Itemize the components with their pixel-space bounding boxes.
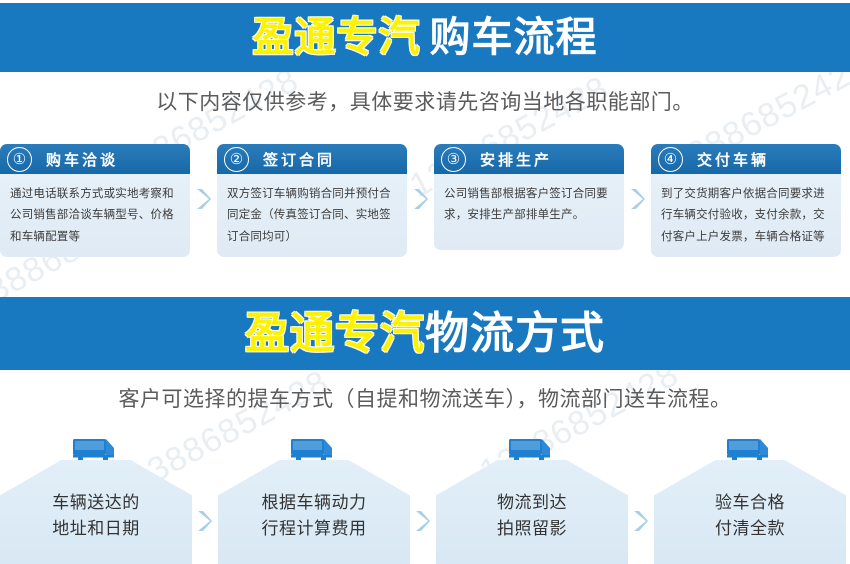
step-arrow-3 [624, 144, 651, 210]
step-card-2-header: ② 签订合同 [217, 144, 407, 174]
logistics-card-3-text: 物流到达 拍照留影 [436, 490, 628, 543]
step-number-badge: ③ [441, 147, 466, 172]
logistics-card-line1: 根据车辆动力 [218, 490, 410, 516]
step-card-2[interactable]: ② 签订合同 双方签订车辆购销合同并预付合同定金（传真签订合同、实地签订合同均可… [217, 144, 407, 257]
purchase-banner-brand: 盈通专汽 [253, 13, 421, 61]
logistics-banner-title: 盈通专汽物流方式 [245, 312, 605, 356]
purchase-banner-title: 盈通专汽购车流程 [253, 17, 598, 58]
logistics-card-line1: 物流到达 [436, 490, 628, 516]
logistics-card-4-text: 验车合格 付清全款 [654, 490, 846, 543]
logistics-cards-row: 车辆送达的 地址和日期 根据车辆动力 行程计算费用 [0, 432, 850, 564]
logistics-card-1-text: 车辆送达的 地址和日期 [0, 490, 192, 543]
step-title: 签订合同 [263, 149, 335, 170]
step-card-3-header: ③ 安排生产 [434, 144, 624, 174]
logistics-arrow-2 [410, 432, 436, 532]
step-title: 交付车辆 [697, 149, 769, 170]
chevron-right-icon [630, 188, 646, 210]
step-body-text: 公司销售部根据客户签订合同要求，安排生产部排单生产。 [434, 174, 624, 250]
logistics-card-3[interactable]: 物流到达 拍照留影 [436, 432, 628, 564]
purchase-steps-row: ① 购车洽谈 通过电话联系方式或实地考察和公司销售部洽谈车辆型号、价格和车辆配置… [0, 144, 850, 254]
step-card-4[interactable]: ④ 交付车辆 到了交货期客户依据合同要求进行车辆交付验收，支付余款，交付客户上户… [651, 144, 841, 257]
purchase-banner: 盈通专汽购车流程 [0, 3, 850, 72]
purchase-banner-rest: 购车流程 [430, 13, 598, 61]
logistics-banner-rest: 物流方式 [425, 308, 605, 359]
logistics-card-line1: 验车合格 [654, 490, 846, 516]
logistics-card-line1: 车辆送达的 [0, 490, 192, 516]
logistics-banner: 盈通专汽物流方式 [0, 297, 850, 370]
logistics-card-4[interactable]: 验车合格 付清全款 [654, 432, 846, 564]
logistics-subtitle: 客户可选择的提车方式（自提和物流送车），物流部门送车流程。 [0, 383, 850, 413]
logistics-card-line2: 行程计算费用 [218, 516, 410, 542]
truck-icon [724, 436, 776, 466]
truck-icon [506, 436, 558, 466]
purchase-subtitle: 以下内容仅供参考，具体要求请先咨询当地各职能部门。 [0, 86, 850, 116]
chevron-right-icon [197, 510, 213, 532]
chevron-right-icon [196, 188, 212, 210]
logistics-banner-brand: 盈通专汽 [245, 308, 425, 359]
step-card-4-header: ④ 交付车辆 [651, 144, 841, 174]
logistics-card-line2: 付清全款 [654, 516, 846, 542]
logistics-arrow-1 [192, 432, 218, 532]
truck-icon [70, 436, 122, 466]
step-arrow-1 [190, 144, 217, 210]
step-card-1-header: ① 购车洽谈 [0, 144, 190, 174]
step-number-badge: ① [7, 147, 32, 172]
step-number-badge: ② [224, 147, 249, 172]
chevron-right-icon [413, 188, 429, 210]
logistics-card-2[interactable]: 根据车辆动力 行程计算费用 [218, 432, 410, 564]
truck-icon [288, 436, 340, 466]
logistics-card-line2: 地址和日期 [0, 516, 192, 542]
logistics-arrow-3 [628, 432, 654, 532]
chevron-right-icon [415, 510, 431, 532]
step-card-1[interactable]: ① 购车洽谈 通过电话联系方式或实地考察和公司销售部洽谈车辆型号、价格和车辆配置… [0, 144, 190, 257]
step-card-3[interactable]: ③ 安排生产 公司销售部根据客户签订合同要求，安排生产部排单生产。 [434, 144, 624, 250]
logistics-card-2-text: 根据车辆动力 行程计算费用 [218, 490, 410, 543]
logistics-card-line2: 拍照留影 [436, 516, 628, 542]
step-body-text: 到了交货期客户依据合同要求进行车辆交付验收，支付余款，交付客户上户发票，车辆合格… [651, 174, 841, 257]
step-number-badge: ④ [658, 147, 683, 172]
logistics-card-1[interactable]: 车辆送达的 地址和日期 [0, 432, 192, 564]
step-body-text: 通过电话联系方式或实地考察和公司销售部洽谈车辆型号、价格和车辆配置等 [0, 174, 190, 257]
step-body-text: 双方签订车辆购销合同并预付合同定金（传真签订合同、实地签订合同均可） [217, 174, 407, 257]
step-arrow-2 [407, 144, 434, 210]
step-title: 购车洽谈 [46, 149, 118, 170]
step-title: 安排生产 [480, 149, 552, 170]
chevron-right-icon [633, 510, 649, 532]
